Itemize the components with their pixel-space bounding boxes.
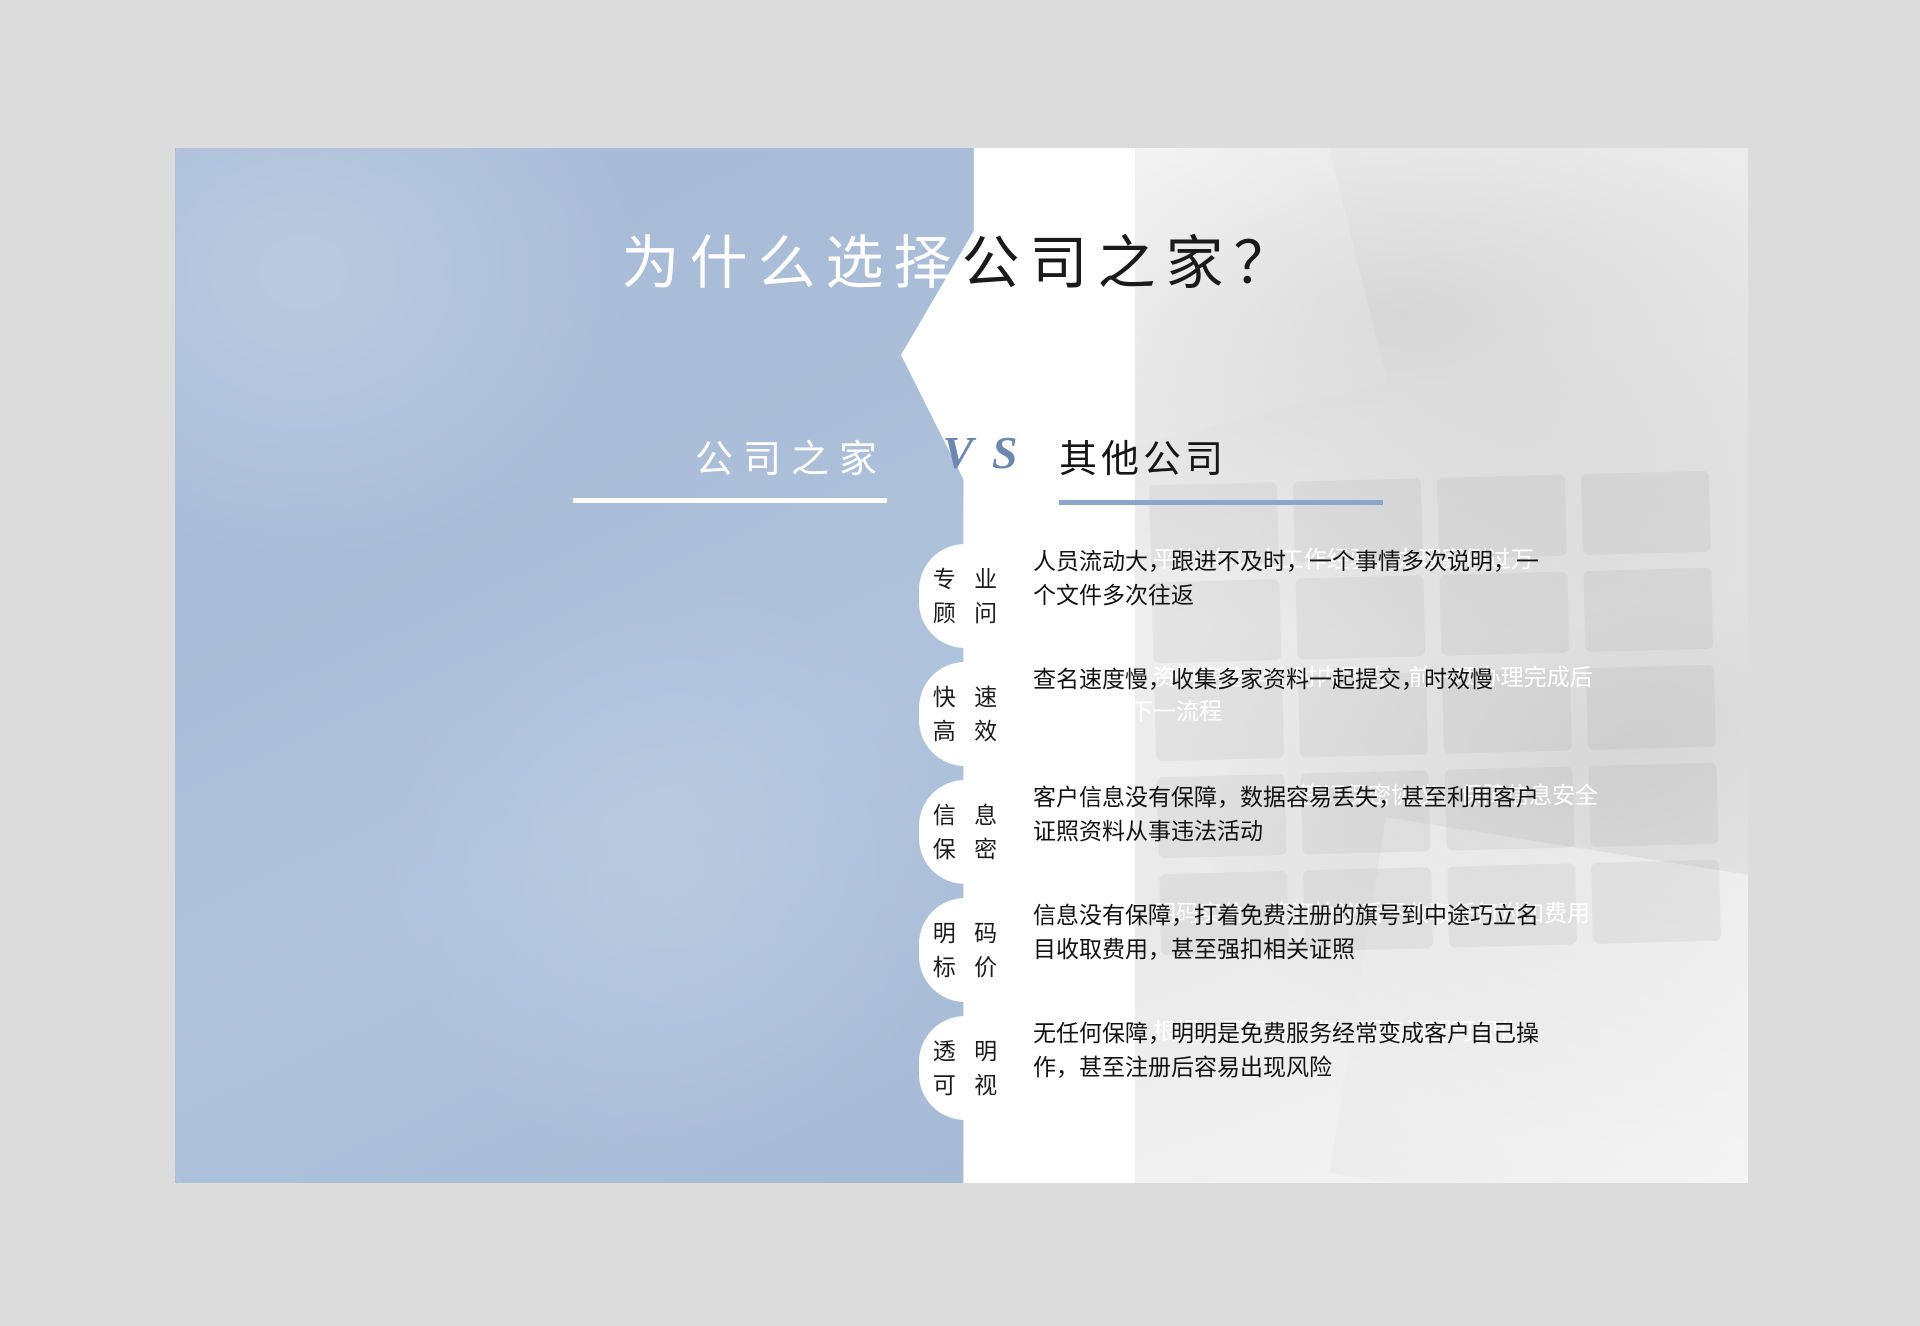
row-category-line1: 信 息 [927, 798, 1003, 832]
comparison-slide: 为什么选择公司之家？ 公司之家 V S 其他公司 团队专业，平均3年以上工作经验… [175, 148, 1748, 1183]
comparison-row: 价格透明，明码实价，签订协议后不收取任何附加费用 明 码 标 价 信息没有保障，… [175, 896, 1748, 1014]
comparison-row: 团队专业，平均3年以上工作经验，办理案例过万 专 业 顾 问 人员流动大，跟进不… [175, 542, 1748, 660]
row-category-line1: 明 码 [927, 916, 1003, 950]
row-right-text: 信息没有保障，打着免费注册的旗号到中途巧立名目收取费用，甚至强扣相关证照 [1033, 898, 1553, 966]
row-right-text: 客户信息没有保障，数据容易丢失，甚至利用客户证照资料从事违法活动 [1033, 780, 1553, 848]
row-right-text: 无任何保障，明明是免费服务经常变成客户自己操作，甚至注册后容易出现风险 [1033, 1016, 1553, 1084]
row-category-line2: 标 价 [927, 950, 1003, 984]
row-right-text: 查名速度慢，收集多家资料一起提交，时效慢 [1033, 662, 1553, 696]
row-category-pill: 信 息 保 密 [919, 780, 1011, 884]
row-category-pill: 透 明 可 视 [919, 1016, 1011, 1120]
versus-right-label: 其他公司 [1059, 428, 1479, 483]
versus-left-underline [573, 498, 887, 503]
row-category-line2: 顾 问 [927, 596, 1003, 630]
row-right-text: 人员流动大，跟进不及时，一个事情多次说明，一个文件多次往返 [1033, 544, 1553, 612]
page-title-highlight: 为什么选择 [621, 231, 961, 296]
row-category-pill: 专 业 顾 问 [919, 544, 1011, 648]
comparison-row: 服务公开，根据合同严格操作，服务流程可视化 透 明 可 视 无任何保障，明明是免… [175, 1014, 1748, 1132]
page-title-brand: 公司之家？ [962, 231, 1302, 296]
versus-left-label: 公司之家 [527, 428, 887, 483]
row-category-pill: 明 码 标 价 [919, 898, 1011, 1002]
versus-header: 公司之家 V S 其他公司 [175, 420, 1748, 530]
page-title: 为什么选择公司之家？ [175, 216, 1748, 300]
row-category-line1: 快 速 [927, 680, 1003, 714]
row-category-line1: 透 明 [927, 1034, 1003, 1068]
row-category-pill: 快 速 高 效 [919, 662, 1011, 766]
row-category-line1: 专 业 [927, 562, 1003, 596]
comparison-row: 签订保密协议、保障信息安全 信 息 保 密 客户信息没有保障，数据容易丢失，甚至… [175, 778, 1748, 896]
row-category-line2: 保 密 [927, 832, 1003, 866]
comparison-row: 简单快捷，资料完整24小时内开始，前一项办理完成后立即启动下一流程 快 速 高 … [175, 660, 1748, 778]
versus-mark: V S [927, 426, 1037, 479]
row-category-line2: 高 效 [927, 714, 1003, 748]
slide-canvas: 为什么选择公司之家？ 公司之家 V S 其他公司 团队专业，平均3年以上工作经验… [0, 0, 1920, 1326]
row-category-line2: 可 视 [927, 1068, 1003, 1102]
versus-right-underline [1059, 500, 1383, 505]
comparison-rows: 团队专业，平均3年以上工作经验，办理案例过万 专 业 顾 问 人员流动大，跟进不… [175, 542, 1748, 1132]
